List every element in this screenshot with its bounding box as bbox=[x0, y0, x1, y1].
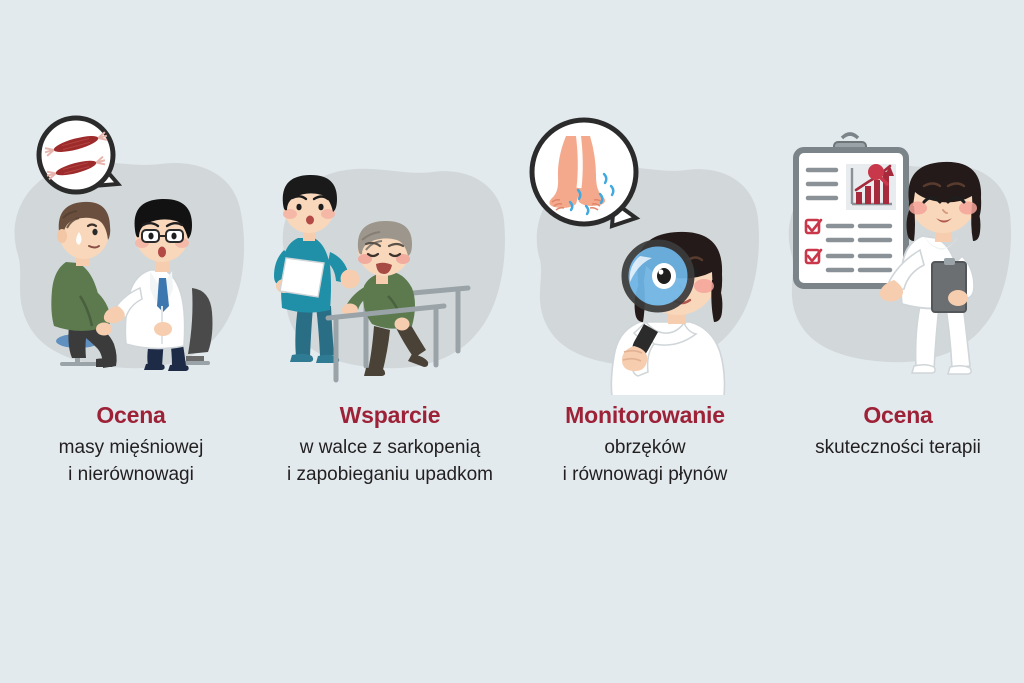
caption-line: w walce z sarkopenią bbox=[262, 435, 518, 462]
caption-line: i zapobieganiu upadkom bbox=[262, 462, 518, 489]
swollen-legs-thought-bubble bbox=[532, 120, 636, 226]
infographic-column-4: Ocena skuteczności terapii bbox=[772, 0, 1024, 683]
caption-title: Ocena bbox=[0, 404, 262, 427]
caption-title: Ocena bbox=[772, 404, 1024, 427]
illustration-nurse-with-report bbox=[772, 110, 1024, 395]
infographic-column-3: Monitorowanie obrzęków i równowagi płynó… bbox=[518, 0, 772, 683]
caption-line: obrzęków bbox=[518, 435, 772, 462]
caption-line: skuteczności terapii bbox=[772, 435, 1024, 462]
caption-block-3: Monitorowanie obrzęków i równowagi płynó… bbox=[518, 404, 772, 489]
clipboard-with-chart bbox=[796, 134, 906, 286]
caption-line: i równowagi płynów bbox=[518, 462, 772, 489]
muscle-thought-bubble bbox=[39, 118, 118, 192]
illustration-gait-training bbox=[262, 110, 518, 395]
infographic-column-1: Ocena masy mięśniowej i nierównowagi bbox=[0, 0, 262, 683]
caption-block-2: Wsparcie w walce z sarkopenią i zapobieg… bbox=[262, 404, 518, 489]
caption-title: Monitorowanie bbox=[518, 404, 772, 427]
caption-line: masy mięśniowej bbox=[0, 435, 262, 462]
caption-block-4: Ocena skuteczności terapii bbox=[772, 404, 1024, 462]
infographic-columns: Ocena masy mięśniowej i nierównowagi bbox=[0, 0, 1024, 683]
caption-block-1: Ocena masy mięśniowej i nierównowagi bbox=[0, 404, 262, 489]
caption-line: i nierównowagi bbox=[0, 462, 262, 489]
infographic-column-2: Wsparcie w walce z sarkopenią i zapobieg… bbox=[262, 0, 518, 683]
illustration-doctor-patient bbox=[0, 110, 262, 395]
infographic-canvas: Ocena masy mięśniowej i nierównowagi bbox=[0, 0, 1024, 683]
caption-title: Wsparcie bbox=[262, 404, 518, 427]
illustration-edema-monitoring bbox=[518, 110, 772, 395]
